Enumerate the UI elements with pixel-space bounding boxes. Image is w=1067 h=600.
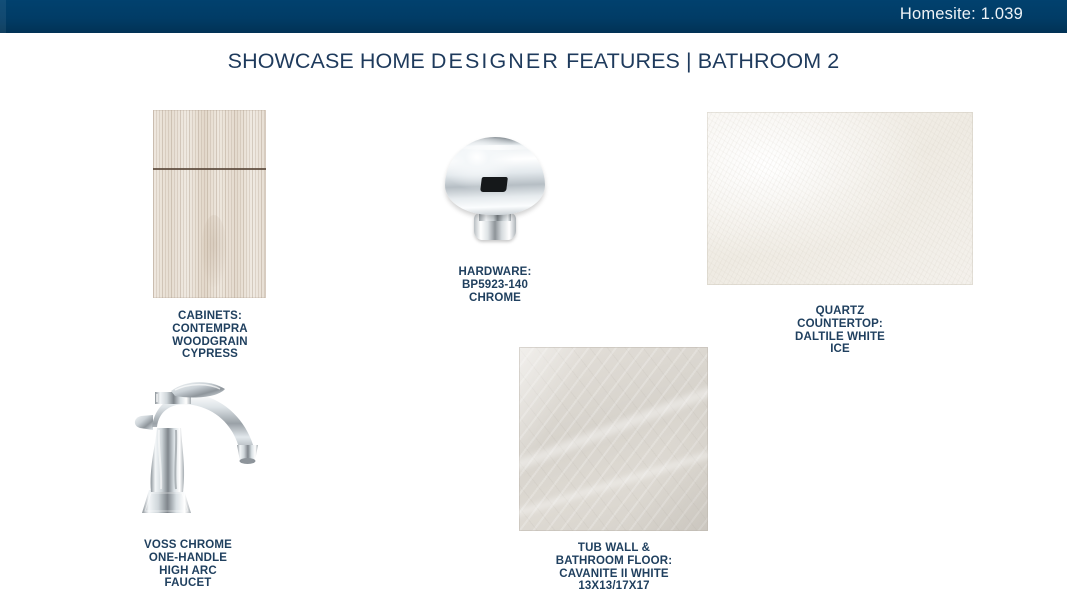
knob-dome [445,137,545,215]
page-title-part-3: FEATURES | BATHROOM 2 [560,49,839,73]
homesite-label: Homesite: 1.039 [900,5,1023,24]
top-header-bar: Homesite: 1.039 [0,0,1067,33]
cabinet-seam-line [153,168,266,170]
page-title-part-1: SHOWCASE HOME [228,49,431,73]
cabinet-door-woodgrain-swatch [153,110,266,298]
caption-tile: TUB WALL & BATHROOM FLOOR: CAVANITE II W… [528,542,700,593]
chrome-faucet-image [119,382,277,530]
knob-reflection-patch [480,177,508,192]
tile-vein-upper [499,377,736,476]
chrome-knob-image [443,131,547,251]
tile-swatch [519,347,708,531]
cabinet-grain-knot [201,215,227,287]
caption-countertop: QUARTZ COUNTERTOP: DALTILE WHITE ICE [770,305,910,356]
page-title: SHOWCASE HOME DESIGNER FEATURES | BATHRO… [0,49,1067,74]
faucet-vector [119,382,277,530]
header-left-edge-accent [0,0,6,33]
caption-faucet: VOSS CHROME ONE-HANDLE HIGH ARC FAUCET [118,539,258,590]
page-title-part-designer: DESIGNER [431,49,560,73]
caption-cabinets: CABINETS: CONTEMPRA WOODGRAIN CYPRESS [140,310,280,361]
knob-highlight-rim [453,145,541,150]
quartz-countertop-swatch [707,112,973,285]
caption-hardware: HARDWARE: BP5923-140 CHROME [425,266,565,304]
